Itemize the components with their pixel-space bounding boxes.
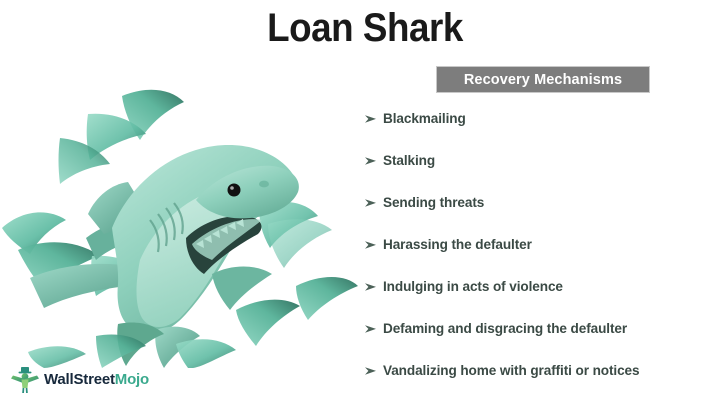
list-item-label: Indulging in acts of violence [383, 278, 563, 295]
recovery-mechanisms-panel: Recovery Mechanisms Blackmailing Stalkin… [360, 60, 715, 400]
list-item: Blackmailing [360, 110, 715, 152]
wallstreetmojo-mascot-icon [10, 364, 40, 394]
arrow-bullet-icon [364, 154, 378, 168]
list-item: Sending threats [360, 194, 715, 236]
list-item-label: Blackmailing [383, 110, 466, 127]
list-item: Harassing the defaulter [360, 236, 715, 278]
slide-canvas: Loan Shark [0, 0, 720, 401]
wallstreetmojo-logo-text: WallStreetMojo [44, 371, 149, 388]
arrow-bullet-icon [364, 364, 378, 378]
arrow-bullet-icon [364, 238, 378, 252]
list-item-label: Sending threats [383, 194, 484, 211]
list-item-label: Defaming and disgracing the defaulter [383, 320, 627, 337]
recovery-mechanisms-list: Blackmailing Stalking Sending threats [360, 110, 715, 404]
list-item: Stalking [360, 152, 715, 194]
logo-text-primary: WallStreet [44, 371, 115, 388]
shark-with-flying-money-illustration [0, 78, 360, 368]
arrow-bullet-icon [364, 280, 378, 294]
arrow-bullet-icon [364, 112, 378, 126]
page-title: Loan Shark [213, 6, 517, 50]
list-item-label: Harassing the defaulter [383, 236, 532, 253]
list-item: Indulging in acts of violence [360, 278, 715, 320]
list-item-label: Stalking [383, 152, 435, 169]
list-item: Defaming and disgracing the defaulter [360, 320, 715, 362]
recovery-mechanisms-banner-label: Recovery Mechanisms [464, 72, 622, 88]
arrow-bullet-icon [364, 196, 378, 210]
shark-eye [228, 184, 241, 197]
wallstreetmojo-logo: WallStreetMojo [10, 362, 149, 396]
arrow-bullet-icon [364, 322, 378, 336]
list-item-label: Vandalizing home with graffiti or notice… [383, 362, 639, 379]
list-item: Vandalizing home with graffiti or notice… [360, 362, 715, 404]
logo-text-accent: Mojo [115, 371, 149, 388]
recovery-mechanisms-banner: Recovery Mechanisms [436, 66, 650, 93]
